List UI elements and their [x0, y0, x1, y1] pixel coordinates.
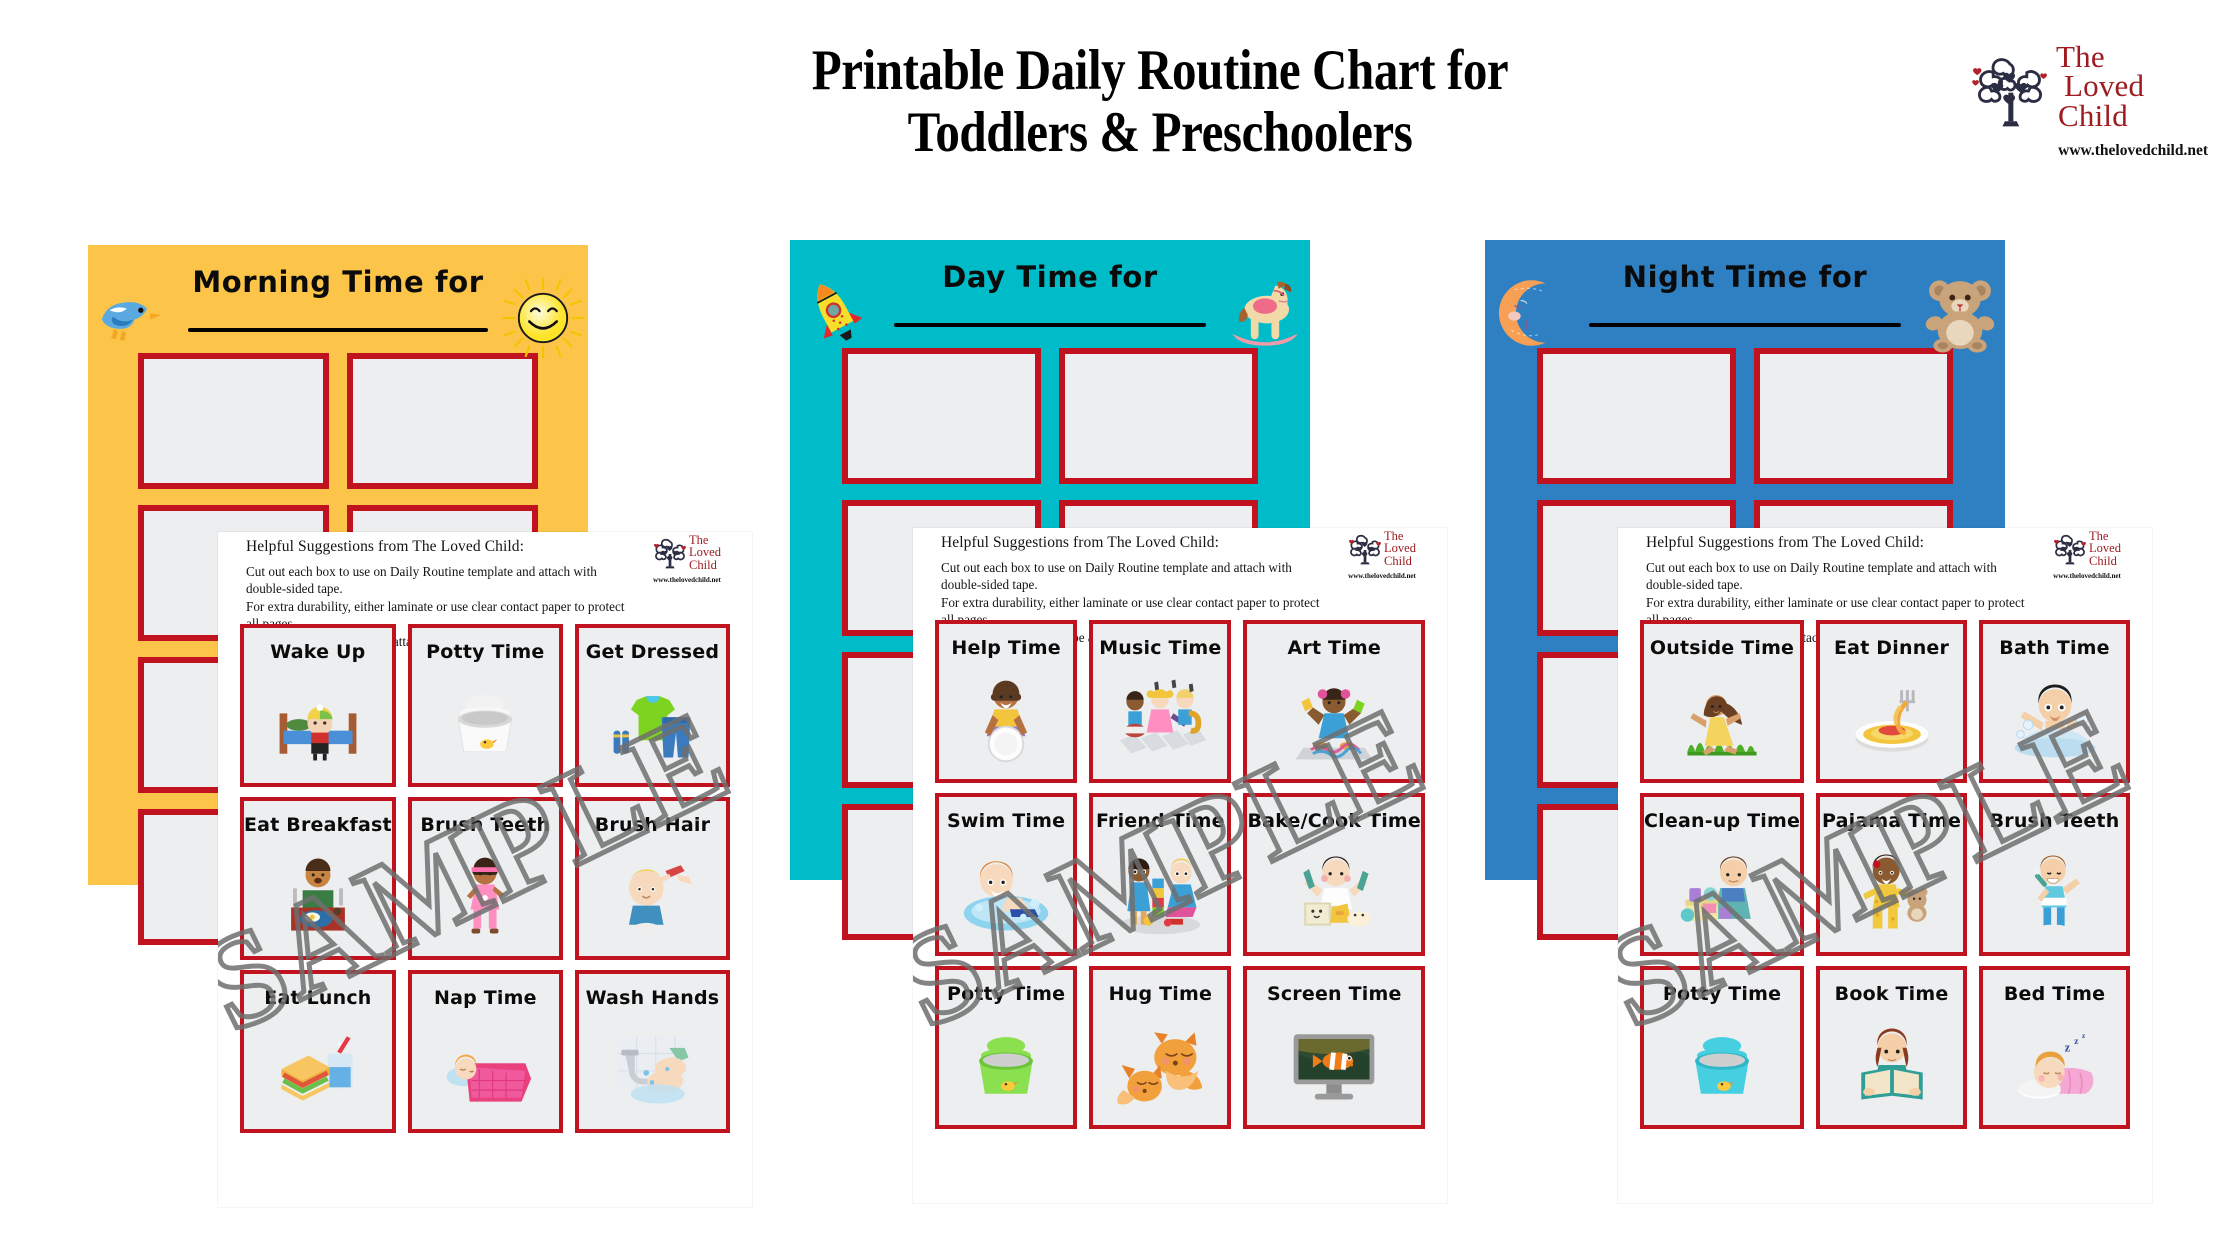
- routine-card-label: Swim Time: [947, 810, 1065, 832]
- routine-card-label: Wash Hands: [586, 987, 720, 1009]
- routine-slot[interactable]: [1754, 348, 1953, 484]
- routine-slot[interactable]: [1059, 348, 1258, 484]
- sheet-heading: Helpful Suggestions from The Loved Child…: [246, 538, 524, 556]
- sheet-brand-url[interactable]: www.thelovedchild.net: [638, 576, 736, 584]
- sheet-instruction-line-1: Cut out each box to use on Daily Routine…: [941, 559, 1325, 594]
- child-swimming-icon: [939, 832, 1073, 952]
- routine-card[interactable]: Art Time: [1243, 620, 1425, 783]
- routine-card-label: Friend Time: [1096, 810, 1225, 832]
- svg-text:z: z: [2074, 1036, 2079, 1047]
- routine-card-label: Brush Teeth: [1990, 810, 2120, 832]
- bluebird-icon: [94, 279, 172, 357]
- routine-card-label: Potty Time: [426, 641, 544, 663]
- routine-card[interactable]: Hug Time: [1089, 966, 1231, 1129]
- green-potty-icon: [939, 1005, 1073, 1125]
- spaghetti-plate-icon: [1820, 659, 1963, 779]
- sheet-brand-word-loved: Loved: [689, 546, 721, 558]
- blue-potty-icon: [1644, 1005, 1800, 1125]
- girl-painting-icon: [1247, 659, 1421, 779]
- sheet-brand-word-loved: Loved: [2089, 542, 2121, 554]
- routine-card[interactable]: Brush Teeth: [408, 797, 563, 960]
- routine-card-label: Bake/Cook Time: [1247, 810, 1421, 832]
- routine-card[interactable]: Get Dressed: [575, 624, 730, 787]
- girl-with-plate-icon: [939, 659, 1073, 779]
- printable-routine-chart-page: Printable Daily Routine Chart for Toddle…: [0, 0, 2240, 1260]
- routine-slot[interactable]: [138, 353, 329, 489]
- page-title-line-2: Toddlers & Preschoolers: [489, 102, 1831, 164]
- boy-brushing-teeth-icon: [1983, 832, 2126, 952]
- brand-word-the: The: [2056, 42, 2144, 71]
- routine-slot[interactable]: [347, 353, 538, 489]
- brand-logo: The Loved Child www.thelovedchild.net: [1968, 42, 2208, 160]
- heart-tree-icon: [2053, 531, 2087, 565]
- name-write-in-line[interactable]: [894, 323, 1206, 327]
- girl-reading-icon: [1820, 1005, 1963, 1125]
- routine-card-label: Pajama Time: [1822, 810, 1961, 832]
- routine-card-label: Wake Up: [270, 641, 365, 663]
- sheet-brand-word-loved: Loved: [1384, 542, 1416, 554]
- sheet-brand-logo: The Loved Child www.thelovedchild.net: [2038, 530, 2136, 580]
- sandwich-drink-icon: [244, 1009, 392, 1129]
- routine-card[interactable]: Bake/Cook Time: [1243, 793, 1425, 956]
- sheet-brand-logo: The Loved Child www.thelovedchild.net: [1333, 530, 1431, 580]
- sheet-heading: Helpful Suggestions from The Loved Child…: [1646, 534, 1924, 552]
- kids-band-icon: [1093, 659, 1227, 779]
- routine-card[interactable]: Swim Time: [935, 793, 1077, 956]
- routine-card[interactable]: Potty Time: [935, 966, 1077, 1129]
- hugging-foxes-icon: [1093, 1005, 1227, 1125]
- clothes-icon: [579, 663, 726, 783]
- routine-card-label: Hug Time: [1109, 983, 1212, 1005]
- routine-card-label: Screen Time: [1267, 983, 1402, 1005]
- brand-word-loved: Loved: [2064, 71, 2144, 100]
- child-in-bed-icon: [244, 663, 392, 783]
- monitor-fish-icon: [1247, 1005, 1421, 1125]
- crescent-moon-icon: [1491, 274, 1569, 352]
- suggestion-sheet-day: Helpful Suggestions from The Loved Child…: [913, 528, 1447, 1203]
- routine-card-label: Outside Time: [1650, 637, 1794, 659]
- brand-word-child: Child: [2058, 101, 2144, 130]
- routine-card[interactable]: Screen Time: [1243, 966, 1425, 1129]
- routine-card-label: Music Time: [1099, 637, 1221, 659]
- sheet-brand-word-child: Child: [2089, 555, 2121, 567]
- breakfast-child-icon: [244, 836, 392, 956]
- routine-card-label: Brush Hair: [595, 814, 710, 836]
- routine-slot[interactable]: [1537, 348, 1736, 484]
- routine-card-grid: Help Time Music Time Art Time Swim Time …: [935, 620, 1425, 1129]
- handwashing-icon: [579, 1009, 726, 1129]
- routine-card-label: Eat Breakfast: [244, 814, 392, 836]
- routine-card[interactable]: Eat Lunch: [240, 970, 396, 1133]
- sheet-brand-wordmark: The Loved Child: [1384, 530, 1416, 567]
- routine-card[interactable]: Potty Time: [408, 624, 563, 787]
- routine-card[interactable]: Pajama Time: [1816, 793, 1967, 956]
- rocket-icon: [796, 274, 874, 352]
- routine-card-grid: Outside Time Eat Dinner Bath Time Clean-…: [1640, 620, 2130, 1129]
- white-potty-icon: [412, 663, 559, 783]
- suggestion-sheet-morning: Helpful Suggestions from The Loved Child…: [218, 532, 752, 1207]
- routine-card[interactable]: Book Time: [1816, 966, 1967, 1129]
- routine-card[interactable]: Potty Time: [1640, 966, 1804, 1129]
- routine-card-label: Book Time: [1835, 983, 1949, 1005]
- routine-card-label: Potty Time: [947, 983, 1065, 1005]
- hair-brushing-icon: [579, 836, 726, 956]
- routine-card[interactable]: Wash Hands: [575, 970, 730, 1133]
- svg-text:z: z: [2064, 1041, 2070, 1055]
- routine-card-label: Clean-up Time: [1644, 810, 1800, 832]
- teddy-bear-icon: [1917, 270, 2003, 356]
- girl-on-grass-icon: [1644, 659, 1800, 779]
- sheet-instruction-line-1: Cut out each box to use on Daily Routine…: [246, 563, 630, 598]
- brand-website-url[interactable]: www.thelovedchild.net: [1968, 142, 2208, 160]
- routine-card[interactable]: Friend Time: [1089, 793, 1231, 956]
- routine-card[interactable]: Help Time: [935, 620, 1077, 783]
- sheet-brand-wordmark: The Loved Child: [2089, 530, 2121, 567]
- sheet-heading: Helpful Suggestions from The Loved Child…: [941, 534, 1219, 552]
- routine-card[interactable]: Outside Time: [1640, 620, 1804, 783]
- heart-tree-icon: [1968, 44, 2052, 128]
- sheet-brand-url[interactable]: www.thelovedchild.net: [1333, 572, 1431, 580]
- routine-card-label: Nap Time: [434, 987, 537, 1009]
- routine-card[interactable]: Brush Hair: [575, 797, 730, 960]
- kids-playing-blocks-icon: [1093, 832, 1227, 952]
- girl-brushing-teeth-icon: [412, 836, 559, 956]
- page-title: Printable Daily Routine Chart for Toddle…: [489, 40, 1831, 163]
- routine-card[interactable]: Music Time: [1089, 620, 1231, 783]
- routine-card[interactable]: Wake Up: [240, 624, 396, 787]
- routine-card-label: Help Time: [951, 637, 1060, 659]
- sleeping-baby-icon: zzz: [1983, 1005, 2126, 1125]
- boy-tidying-toys-icon: [1644, 832, 1800, 952]
- name-write-in-line[interactable]: [188, 328, 488, 332]
- sheet-brand-word-child: Child: [689, 559, 721, 571]
- sun-icon: [500, 275, 586, 361]
- girl-pajamas-teddy-icon: [1820, 832, 1963, 952]
- child-in-bath-icon: [1983, 659, 2126, 779]
- heart-tree-icon: [653, 535, 687, 569]
- routine-card[interactable]: Eat Breakfast: [240, 797, 396, 960]
- suggestion-sheet-night: Helpful Suggestions from The Loved Child…: [1618, 528, 2152, 1203]
- routine-card-label: Art Time: [1287, 637, 1381, 659]
- routine-card-label: Get Dressed: [586, 641, 720, 663]
- brand-wordmark: The Loved Child: [2056, 42, 2144, 130]
- rocking-horse-icon: [1222, 270, 1308, 356]
- routine-card-label: Brush Teeth: [420, 814, 550, 836]
- sleeping-girl-icon: [412, 1009, 559, 1129]
- routine-card[interactable]: Eat Dinner: [1816, 620, 1967, 783]
- sheet-brand-word-child: Child: [1384, 555, 1416, 567]
- routine-slot[interactable]: [842, 348, 1041, 484]
- routine-card[interactable]: Bath Time: [1979, 620, 2130, 783]
- name-write-in-line[interactable]: [1589, 323, 1901, 327]
- routine-card-label: Eat Dinner: [1834, 637, 1949, 659]
- boy-baking-icon: [1247, 832, 1421, 952]
- routine-card[interactable]: Clean-up Time: [1640, 793, 1804, 956]
- sheet-instruction-line-1: Cut out each box to use on Daily Routine…: [1646, 559, 2030, 594]
- sheet-brand-logo: The Loved Child www.thelovedchild.net: [638, 534, 736, 584]
- page-title-line-1: Printable Daily Routine Chart for: [812, 39, 1509, 102]
- routine-card-label: Bed Time: [2004, 983, 2105, 1005]
- routine-card[interactable]: Bed Time zzz: [1979, 966, 2130, 1129]
- routine-card[interactable]: Nap Time: [408, 970, 563, 1133]
- svg-text:z: z: [2081, 1031, 2085, 1040]
- sheet-brand-wordmark: The Loved Child: [689, 534, 721, 571]
- routine-card-label: Potty Time: [1663, 983, 1781, 1005]
- heart-tree-icon: [1348, 531, 1382, 565]
- routine-card-label: Bath Time: [1999, 637, 2109, 659]
- routine-card-grid: Wake Up Potty Time Get Dressed Eat Break…: [240, 624, 730, 1133]
- routine-card[interactable]: Brush Teeth: [1979, 793, 2130, 956]
- routine-card-label: Eat Lunch: [264, 987, 371, 1009]
- sheet-brand-url[interactable]: www.thelovedchild.net: [2038, 572, 2136, 580]
